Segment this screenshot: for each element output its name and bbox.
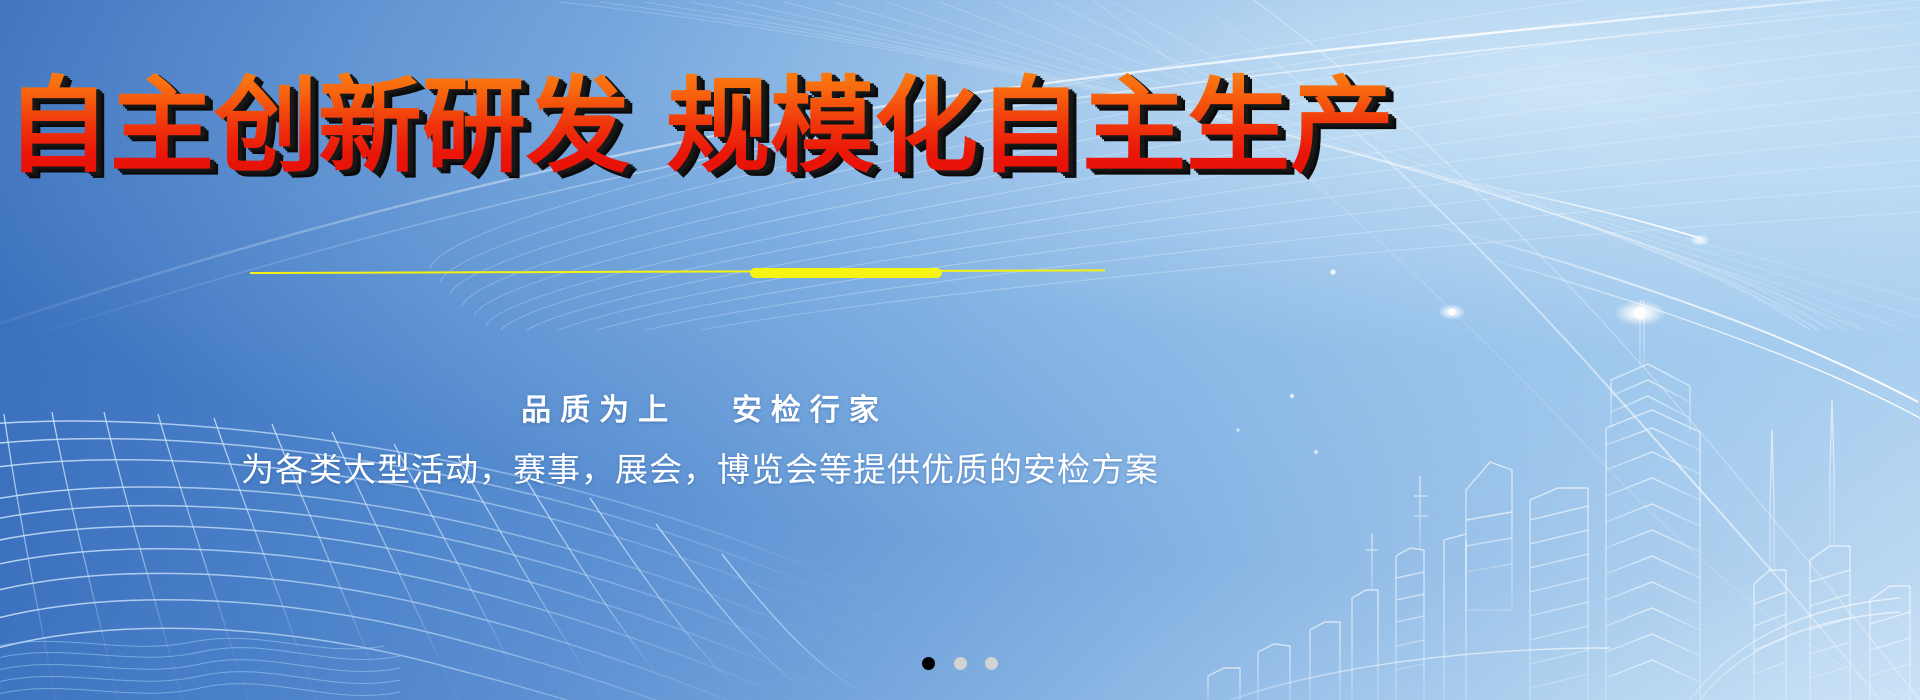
carousel-indicators[interactable] bbox=[0, 655, 1920, 673]
subtitle-primary-part-a: 品质为上 bbox=[521, 394, 677, 427]
divider-thick-segment bbox=[750, 268, 942, 278]
banner-headline: 自主创新研发 规模化自主生产 自主创新研发 规模化自主生产 自主创新研发 规模化… bbox=[0, 68, 1400, 203]
yellow-divider bbox=[250, 268, 1105, 278]
carousel-dot-3[interactable] bbox=[985, 657, 998, 670]
hero-banner: 自主创新研发 规模化自主生产 自主创新研发 规模化自主生产 自主创新研发 规模化… bbox=[0, 0, 1920, 700]
subtitle-primary-part-b: 安检行家 bbox=[732, 394, 888, 427]
banner-subtitle-secondary: 为各类大型活动，赛事，展会，博览会等提供优质的安检方案 bbox=[0, 443, 1400, 491]
carousel-dot-2[interactable] bbox=[954, 657, 967, 670]
banner-content: 自主创新研发 规模化自主生产 自主创新研发 规模化自主生产 自主创新研发 规模化… bbox=[0, 0, 1400, 700]
carousel-dot-1[interactable] bbox=[922, 657, 935, 670]
banner-subtitle-primary: 品质为上 安检行家 bbox=[0, 385, 1400, 429]
divider-thin-line bbox=[250, 269, 1105, 274]
banner-headline-text: 自主创新研发 规模化自主生产 bbox=[6, 65, 1394, 187]
